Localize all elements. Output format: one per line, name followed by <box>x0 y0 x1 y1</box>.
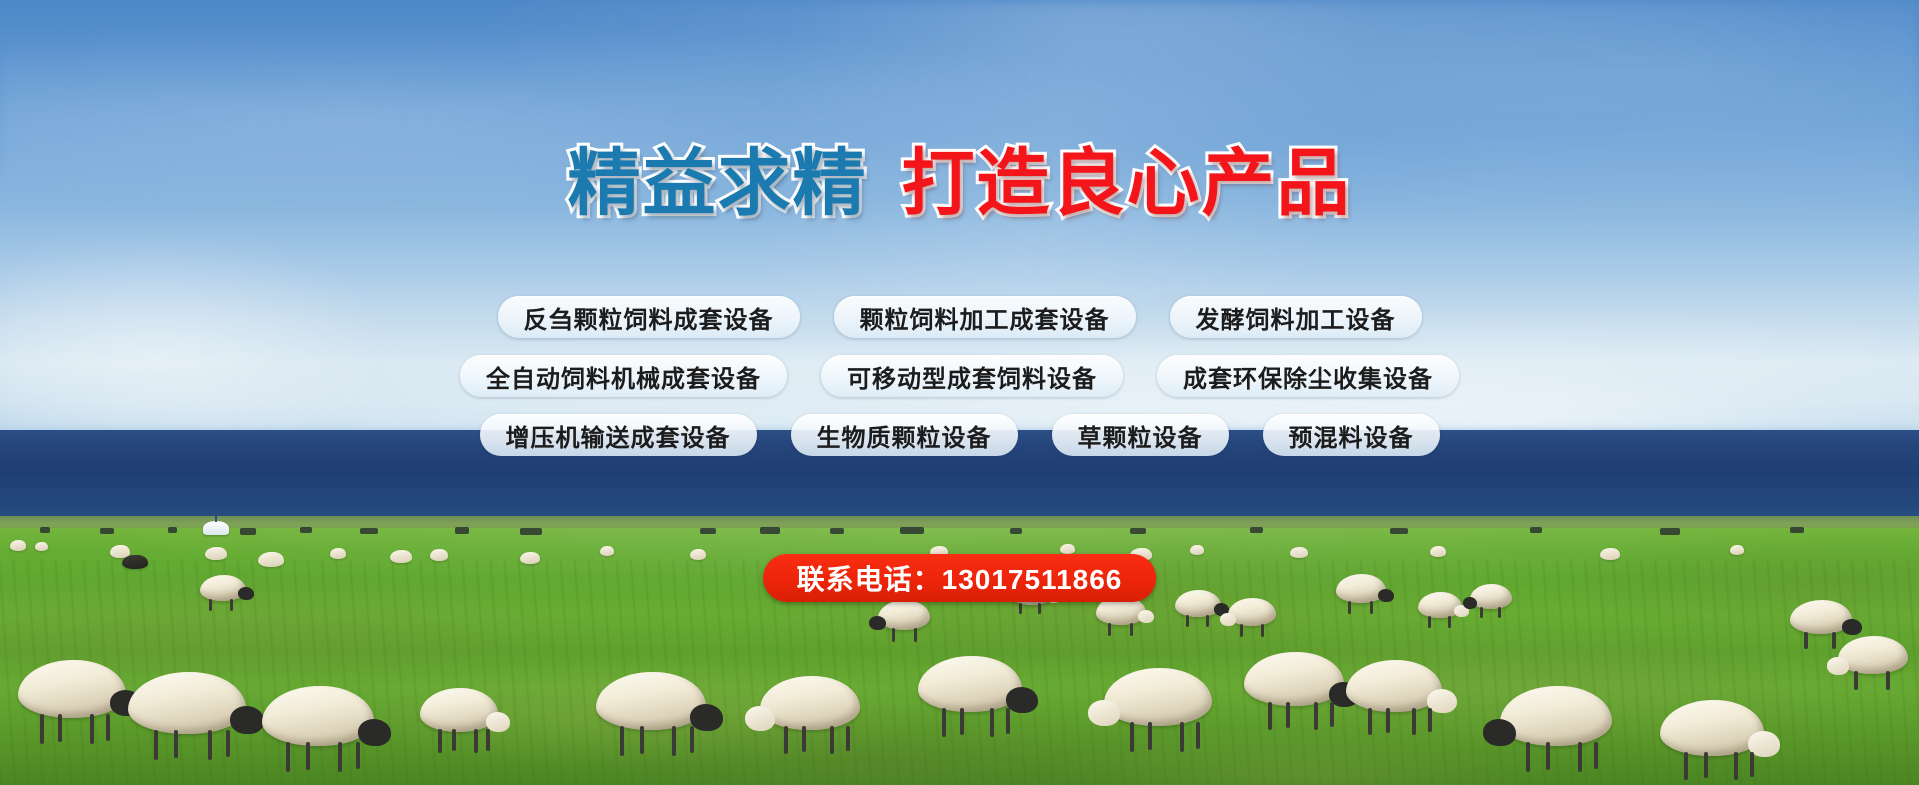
product-pill-biomass-pellet-equipment[interactable]: 生物质颗粒设备 <box>791 414 1018 456</box>
content-overlay: 精益求精打造良心产品 反刍颗粒饲料成套设备 颗粒饲料加工成套设备 发酵饲料加工设… <box>0 0 1919 785</box>
product-pill-row-1: 反刍颗粒饲料成套设备 颗粒饲料加工成套设备 发酵饲料加工设备 <box>0 296 1919 338</box>
product-pill-mobile-complete-feed-equipment[interactable]: 可移动型成套饲料设备 <box>821 355 1123 397</box>
product-pill-fermented-feed-processing-equipment[interactable]: 发酵饲料加工设备 <box>1170 296 1422 338</box>
contact-phone-badge[interactable]: 联系电话：13017511866 <box>763 554 1157 602</box>
product-pill-row-2: 全自动饲料机械成套设备 可移动型成套饲料设备 成套环保除尘收集设备 <box>0 355 1919 397</box>
product-pill-booster-conveying-complete-equipment[interactable]: 增压机输送成套设备 <box>480 414 757 456</box>
product-pill-environmental-dust-collection-equipment[interactable]: 成套环保除尘收集设备 <box>1157 355 1459 397</box>
headline-red-text: 打造良心产品 <box>902 143 1352 224</box>
product-pill-ruminant-pellet-feed-complete-equipment[interactable]: 反刍颗粒饲料成套设备 <box>498 296 800 338</box>
product-pill-premix-equipment[interactable]: 预混料设备 <box>1263 414 1440 456</box>
product-pill-row-3: 增压机输送成套设备 生物质颗粒设备 草颗粒设备 预混料设备 <box>0 414 1919 456</box>
headline: 精益求精打造良心产品 <box>0 147 1919 220</box>
banner-root: 精益求精打造良心产品 反刍颗粒饲料成套设备 颗粒饲料加工成套设备 发酵饲料加工设… <box>0 0 1919 785</box>
product-pill-pellet-feed-processing-complete-equipment[interactable]: 颗粒饲料加工成套设备 <box>834 296 1136 338</box>
product-pill-group: 反刍颗粒饲料成套设备 颗粒饲料加工成套设备 发酵饲料加工设备 全自动饲料机械成套… <box>0 296 1919 473</box>
product-pill-grass-pellet-equipment[interactable]: 草颗粒设备 <box>1052 414 1229 456</box>
product-pill-fully-automatic-feed-machinery-complete-equipment[interactable]: 全自动饲料机械成套设备 <box>460 355 787 397</box>
headline-blue-text: 精益求精 <box>568 143 868 224</box>
